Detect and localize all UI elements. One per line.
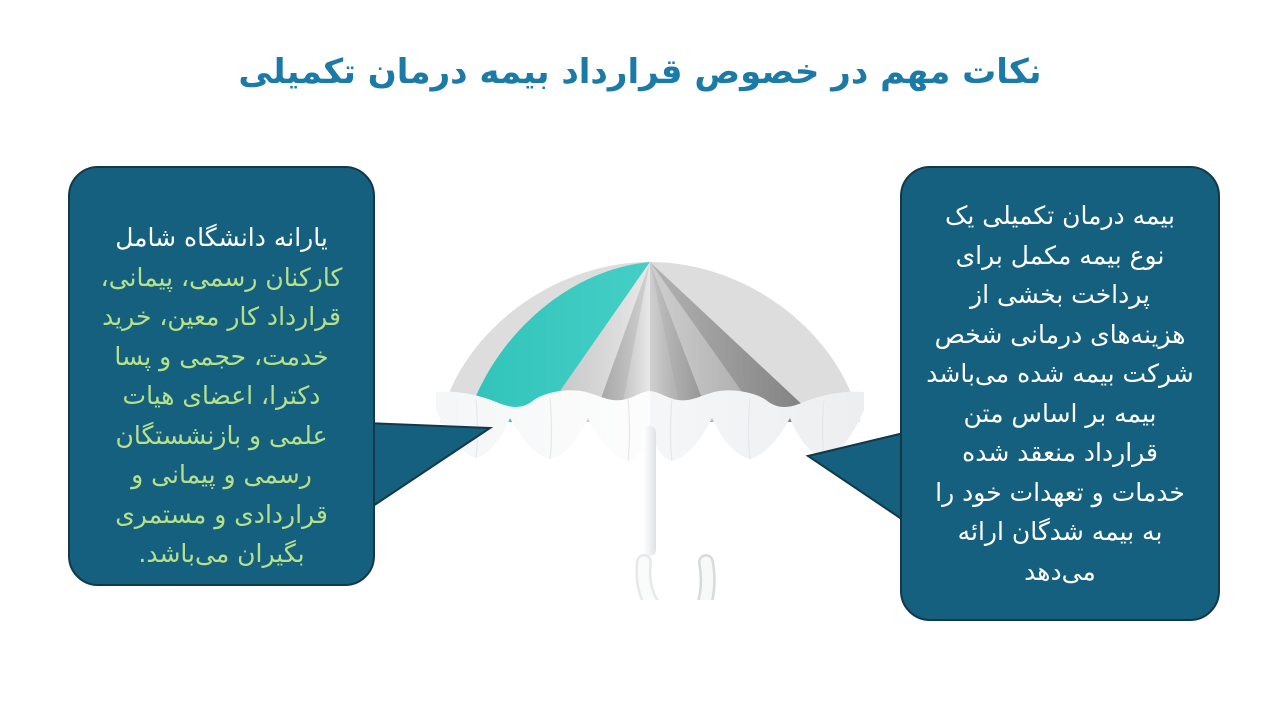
callout-right-text: بیمه درمان تکمیلی یک نوع بیمه مکمل برای … (924, 196, 1196, 591)
callout-box-left[interactable]: یارانه دانشگاه شاملکارکنان رسمی، پیمانی،… (68, 166, 375, 586)
umbrella-handle-hook (643, 562, 707, 600)
callout-left-body: کارکنان رسمی، پیمانی، قرارداد کار معین، … (101, 263, 343, 569)
slide-canvas: نکات مهم در خصوص قرارداد بیمه درمان تکمی… (0, 0, 1280, 720)
page-title: نکات مهم در خصوص قرارداد بیمه درمان تکمی… (0, 52, 1280, 93)
callout-left-lead-line: یارانه دانشگاه شامل (92, 218, 351, 258)
callout-box-right[interactable]: بیمه درمان تکمیلی یک نوع بیمه مکمل برای … (900, 166, 1220, 621)
callout-left-text: یارانه دانشگاه شاملکارکنان رسمی، پیمانی،… (92, 179, 351, 574)
umbrella-shaft (643, 426, 656, 556)
